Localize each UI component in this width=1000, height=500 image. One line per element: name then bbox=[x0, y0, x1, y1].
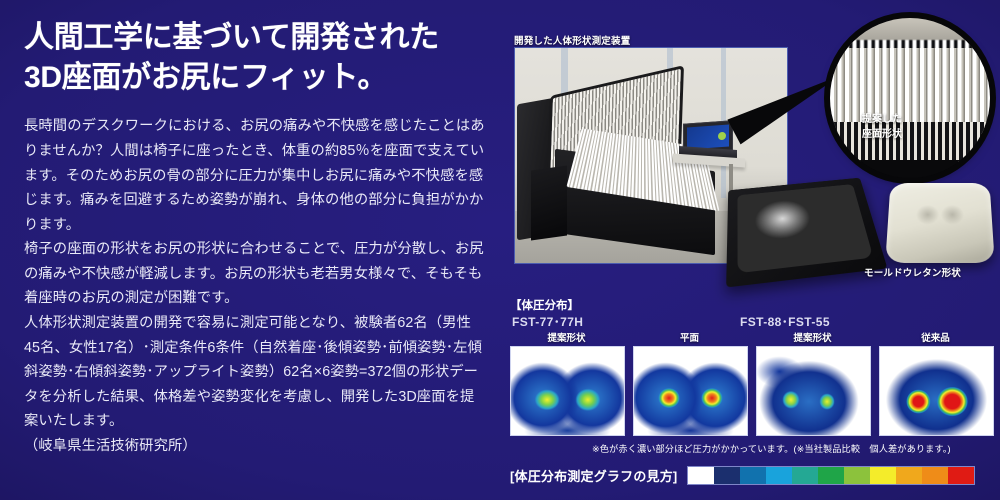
page-title: 人間工学に基づいて開発された 3D座面がお尻にフィット。 bbox=[24, 18, 486, 98]
pressure-section-title: 【体圧分布】 bbox=[510, 297, 579, 313]
body-paragraph-2: 椅子の座面の形状をお尻の形状に合わせることで、圧力が分散し、お尻の痛みや不快感が… bbox=[24, 237, 486, 311]
body-copy: 長時間のデスクワークにおける、お尻の痛みや不快感を感じたことはありませんか？人間… bbox=[24, 114, 486, 458]
black-mold-surface bbox=[738, 184, 874, 273]
pressure-map-caption: 提案形状 bbox=[510, 330, 623, 344]
device-base-side bbox=[531, 165, 567, 240]
pressure-map-image-flat-77 bbox=[633, 346, 748, 436]
seat-surface-closeup bbox=[830, 18, 990, 178]
proposed-shape-label-line-2: 座面形状 bbox=[862, 129, 902, 140]
pressure-map-cell: 従来品 bbox=[879, 330, 992, 436]
pressure-color-scale bbox=[687, 466, 975, 485]
legend-swatch bbox=[948, 467, 974, 484]
legend-swatch bbox=[766, 467, 792, 484]
device-photo-caption: 開発した人体形状測定装置 bbox=[514, 33, 630, 47]
pressure-map-image-proposed-88 bbox=[756, 346, 871, 436]
pressure-map-cell: 提案形状 bbox=[756, 330, 869, 436]
pressure-map-caption: 提案形状 bbox=[756, 330, 869, 344]
pressure-map-image-conventional bbox=[879, 346, 994, 436]
proposed-shape-label: 提案した 座面形状 bbox=[862, 113, 902, 142]
legend-swatch bbox=[818, 467, 844, 484]
pressure-model-right: FST-88･FST-55 bbox=[740, 313, 830, 330]
pressure-model-left: FST-77･77H bbox=[512, 313, 583, 330]
legend-swatch bbox=[896, 467, 922, 484]
left-text-column: 人間工学に基づいて開発された 3D座面がお尻にフィット。 長時間のデスクワークに… bbox=[24, 18, 486, 488]
pressure-legend: [体圧分布測定グラフの見方] bbox=[510, 466, 975, 485]
legend-swatch bbox=[688, 467, 714, 484]
legend-swatch bbox=[714, 467, 740, 484]
headline-line-2: 3D座面がお尻にフィット。 bbox=[24, 58, 486, 98]
legend-swatch bbox=[792, 467, 818, 484]
proposed-shape-label-line-1: 提案した bbox=[862, 114, 902, 125]
pressure-map-cell: 平面 bbox=[633, 330, 746, 436]
pressure-note: ※色が赤く濃い部分ほど圧力がかかっています。(※当社製品比較 個人差があります。… bbox=[592, 441, 951, 455]
pressure-map-cell: 提案形状 bbox=[510, 330, 623, 436]
pressure-map-caption: 従来品 bbox=[879, 330, 992, 344]
legend-swatch bbox=[922, 467, 948, 484]
urethane-label: モールドウレタン形状 bbox=[864, 265, 961, 279]
closeup-background-bottom bbox=[830, 160, 990, 178]
body-paragraph-3: 人体形状測定装置の開発で容易に測定可能となり、被験者62名（男性45名、女性17… bbox=[24, 311, 486, 434]
body-paragraph-1: 長時間のデスクワークにおける、お尻の痛みや不快感を感じたことはありませんか？人間… bbox=[24, 114, 486, 237]
right-media-column: 開発した人体形状測定装置 bbox=[500, 0, 1000, 500]
urethane-cushion bbox=[885, 183, 995, 263]
legend-swatch bbox=[870, 467, 896, 484]
closeup-pin-shadow bbox=[830, 122, 990, 162]
pressure-map-caption: 平面 bbox=[633, 330, 746, 344]
body-source: （岐阜県生活技術研究所） bbox=[24, 434, 486, 459]
legend-swatch bbox=[844, 467, 870, 484]
promo-page: 人間工学に基づいて開発された 3D座面がお尻にフィット。 長時間のデスクワークに… bbox=[0, 0, 1000, 500]
legend-swatch bbox=[740, 467, 766, 484]
pressure-map-image-proposed-77 bbox=[510, 346, 625, 436]
pressure-legend-label: [体圧分布測定グラフの見方] bbox=[510, 466, 677, 485]
headline-line-1: 人間工学に基づいて開発された bbox=[24, 18, 486, 58]
